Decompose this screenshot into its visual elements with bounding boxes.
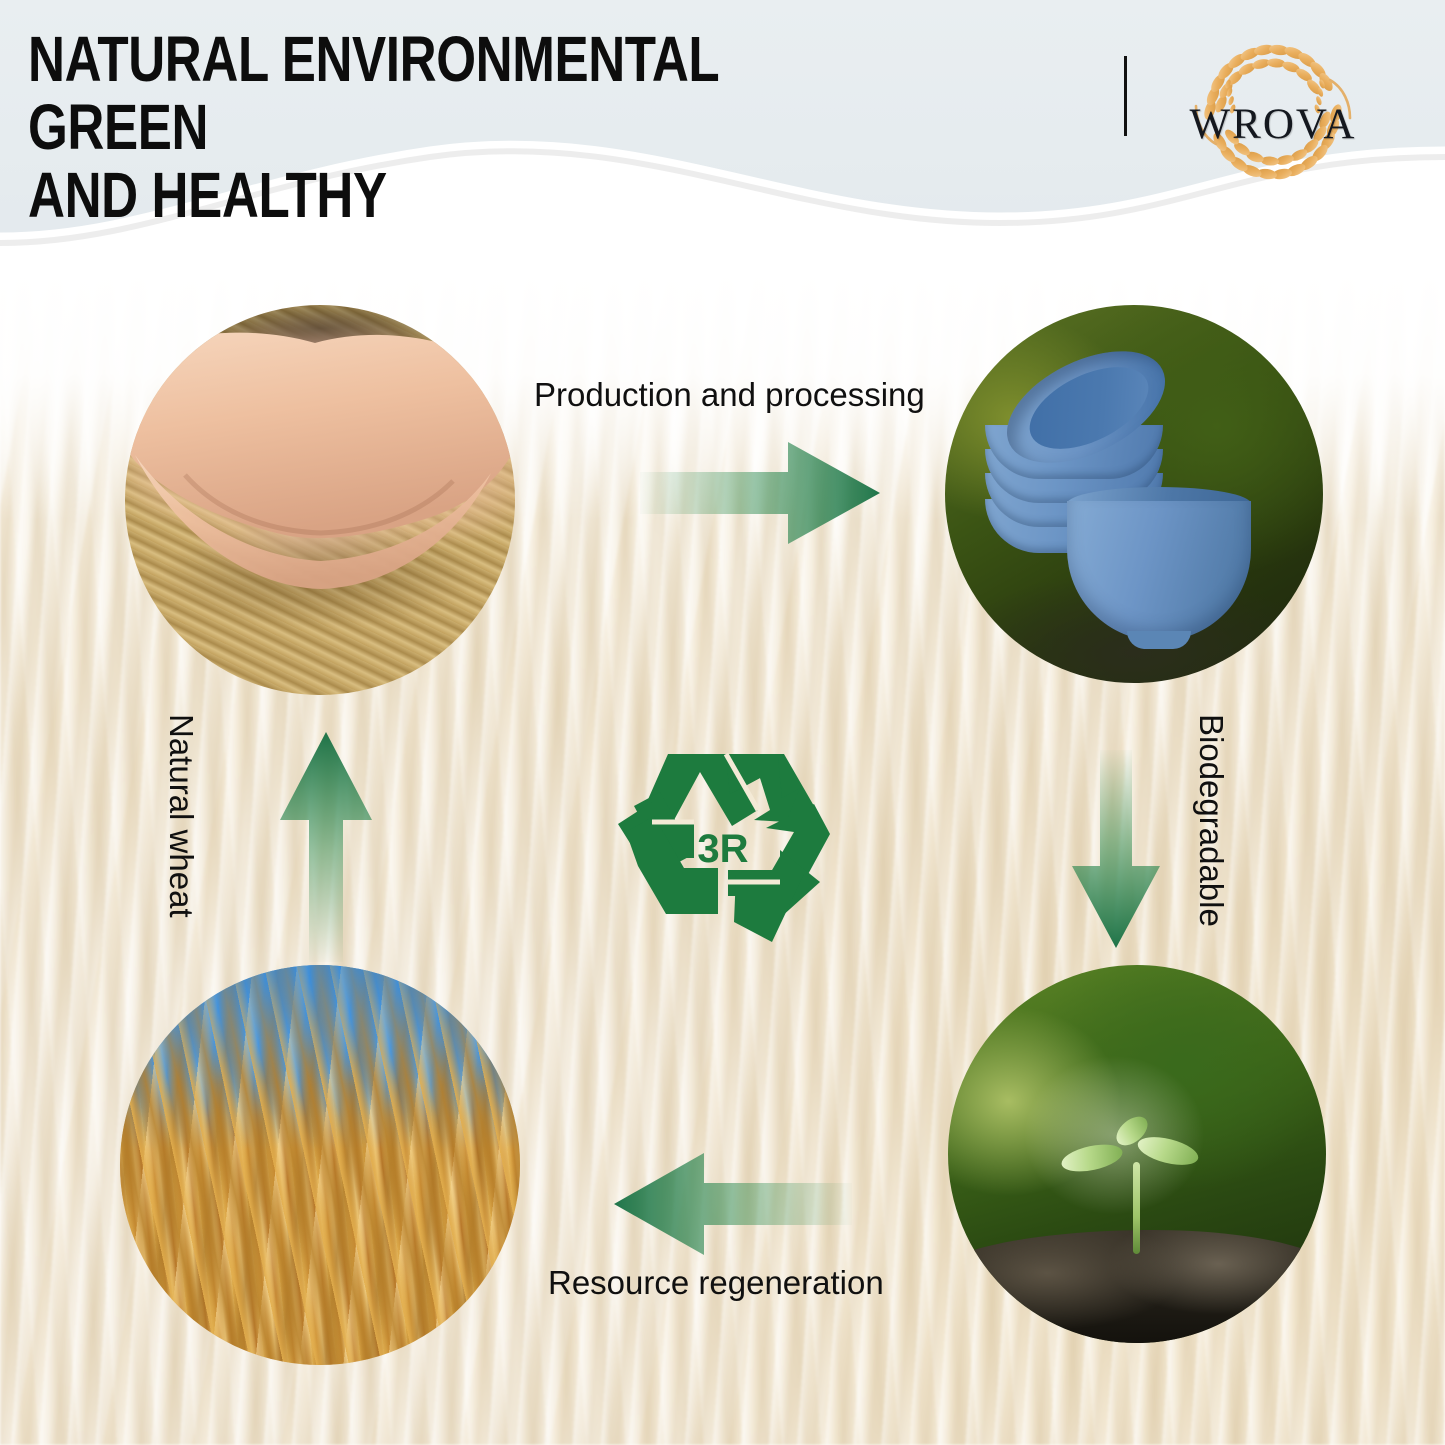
wheat-ears-texture xyxy=(120,965,520,1365)
header: NATURAL ENVIRONMENTAL GREEN AND HEALTHY xyxy=(0,0,1445,262)
label-biodegradable: Biodegradable xyxy=(1192,714,1230,927)
front-bowl-foot xyxy=(1127,631,1191,649)
hands-with-grain-photo xyxy=(125,305,515,695)
product-infographic: NATURAL ENVIRONMENTAL GREEN AND HEALTHY xyxy=(0,0,1445,1445)
header-divider xyxy=(1124,56,1127,136)
page-title: NATURAL ENVIRONMENTAL GREEN AND HEALTHY xyxy=(28,26,876,229)
arrow-right-icon xyxy=(640,438,880,548)
label-production-and-processing: Production and processing xyxy=(534,376,925,414)
front-bowl xyxy=(1067,501,1251,641)
recycle-label: 3R xyxy=(608,827,838,872)
seedling-stem xyxy=(1133,1162,1140,1254)
cupped-hands-illustration xyxy=(125,305,515,695)
wheat-field-photo xyxy=(120,965,520,1365)
arrow-up-icon xyxy=(278,730,374,962)
blue-bowls-photo xyxy=(945,305,1323,683)
brand-logo: WROVA xyxy=(1158,22,1388,202)
brand-name: WROVA xyxy=(1158,100,1388,149)
label-resource-regeneration: Resource regeneration xyxy=(548,1264,884,1302)
arrow-left-icon xyxy=(614,1150,852,1258)
seedling-photo xyxy=(948,965,1326,1343)
label-natural-wheat: Natural wheat xyxy=(162,714,200,918)
arrow-down-icon xyxy=(1070,750,1162,950)
